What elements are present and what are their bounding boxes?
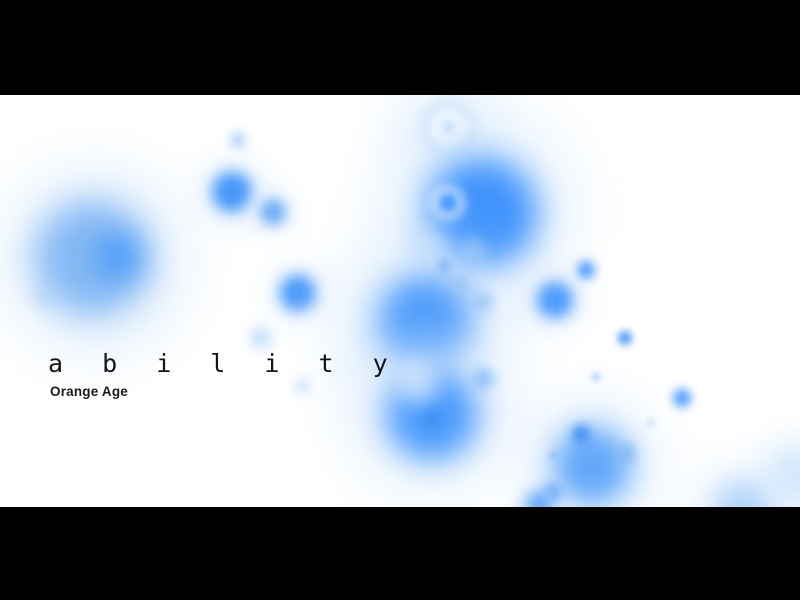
letterbox-band-top [0,0,800,95]
bokeh-circle [550,451,558,459]
bokeh-circle [439,194,457,212]
bokeh-circle [618,331,632,345]
bokeh-circle [438,260,450,272]
bokeh-artwork: a b i l i t y Orange Age [0,95,800,507]
bokeh-circle [260,199,286,225]
bokeh-circle [295,379,309,393]
bokeh-circle [280,275,316,311]
bokeh-circle [592,373,600,381]
bokeh-circle [577,261,595,279]
bokeh-circle [474,293,492,311]
bokeh-circle [673,389,691,407]
bokeh-circle [230,132,246,148]
bokeh-circle [554,428,630,504]
bokeh-circle [463,239,485,261]
bokeh-circle [648,420,654,426]
bokeh-circle [617,444,635,462]
bokeh-circle [251,328,271,348]
bokeh-circle [425,410,439,424]
bokeh-circle [212,172,252,212]
bokeh-circle [452,276,470,294]
bokeh-circle [537,282,573,318]
bokeh-circles-layer [0,95,800,507]
video-frame: a b i l i t y Orange Age [0,0,800,600]
bokeh-circle [396,361,440,405]
bokeh-circle [37,286,55,304]
bokeh-circle [94,234,140,280]
bokeh-circle [572,425,590,443]
letterbox-band-bottom [0,507,800,600]
bokeh-circle [544,483,562,501]
